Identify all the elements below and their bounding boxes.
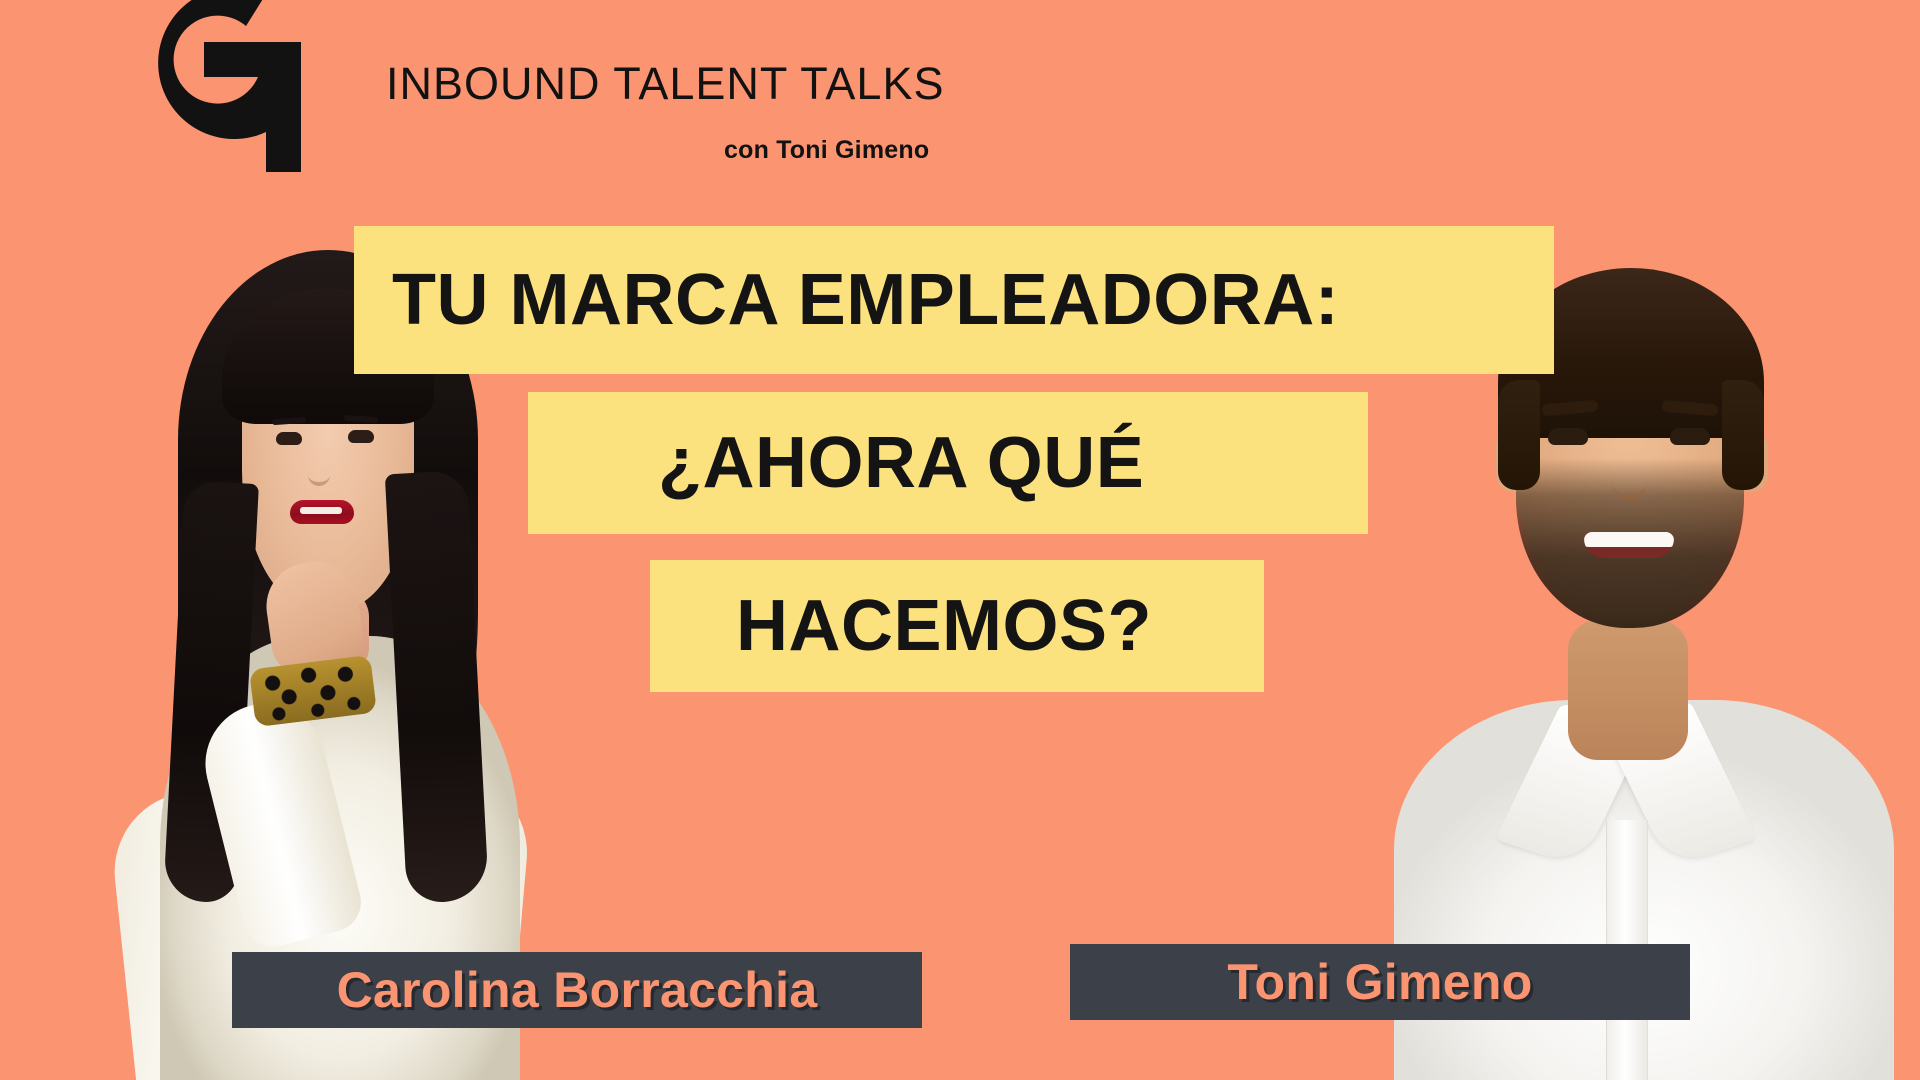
title-line-1-text: TU MARCA EMPLEADORA: xyxy=(392,259,1339,341)
letter-g-logo-icon xyxy=(96,0,328,172)
title-line-2-text: ¿AHORA QUÉ xyxy=(658,422,1144,504)
show-host-line: con Toni Gimeno xyxy=(724,136,929,165)
webinar-title-card: INBOUND TALENT TALKS con Toni Gimeno xyxy=(0,0,1920,1080)
speaker-name-badge-right: Toni Gimeno xyxy=(1070,944,1690,1020)
title-line-3: HACEMOS? xyxy=(650,560,1264,692)
show-title: INBOUND TALENT TALKS xyxy=(386,58,944,110)
title-line-3-text: HACEMOS? xyxy=(736,585,1152,667)
speaker-name-badge-left: Carolina Borracchia xyxy=(232,952,922,1028)
speaker-name-right: Toni Gimeno xyxy=(1227,953,1532,1011)
title-line-1: TU MARCA EMPLEADORA: xyxy=(354,226,1554,374)
title-line-2: ¿AHORA QUÉ xyxy=(528,392,1368,534)
speaker-name-left: Carolina Borracchia xyxy=(337,961,818,1019)
